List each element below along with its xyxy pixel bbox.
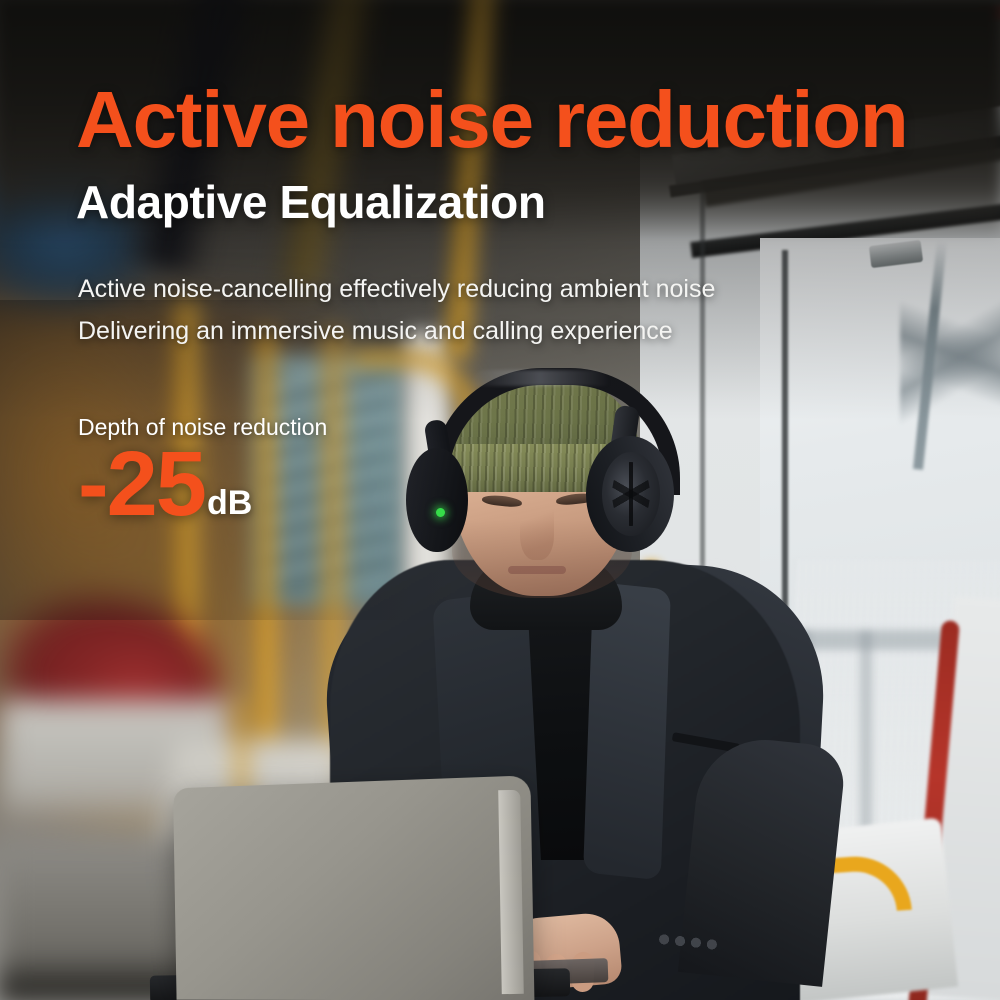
body-copy: Active noise-cancelling effectively redu… bbox=[78, 268, 715, 352]
stat-block: Depth of noise reduction -25 dB bbox=[78, 416, 327, 524]
headphone-status-led bbox=[436, 508, 445, 517]
subheadline: Adaptive Equalization bbox=[76, 179, 546, 225]
stat-value: -25 bbox=[78, 445, 205, 524]
headphone-earcup-left bbox=[406, 448, 468, 552]
body-line-1: Active noise-cancelling effectively redu… bbox=[78, 268, 715, 310]
headline: Active noise reduction bbox=[76, 80, 986, 160]
stat-unit: dB bbox=[207, 486, 252, 520]
stat-value-row: -25 dB bbox=[78, 445, 327, 524]
headphone-earcup-spokes bbox=[612, 462, 650, 526]
laptop-lid-edge bbox=[498, 790, 524, 994]
headphone-headband-highlight bbox=[470, 370, 610, 386]
laptop-lid bbox=[173, 775, 534, 1000]
tree-outside bbox=[900, 250, 1000, 440]
yellow-pole-b bbox=[252, 330, 280, 750]
product-feature-poster: Active noise reduction Adaptive Equaliza… bbox=[0, 0, 1000, 1000]
body-line-2: Delivering an immersive music and callin… bbox=[78, 310, 715, 352]
